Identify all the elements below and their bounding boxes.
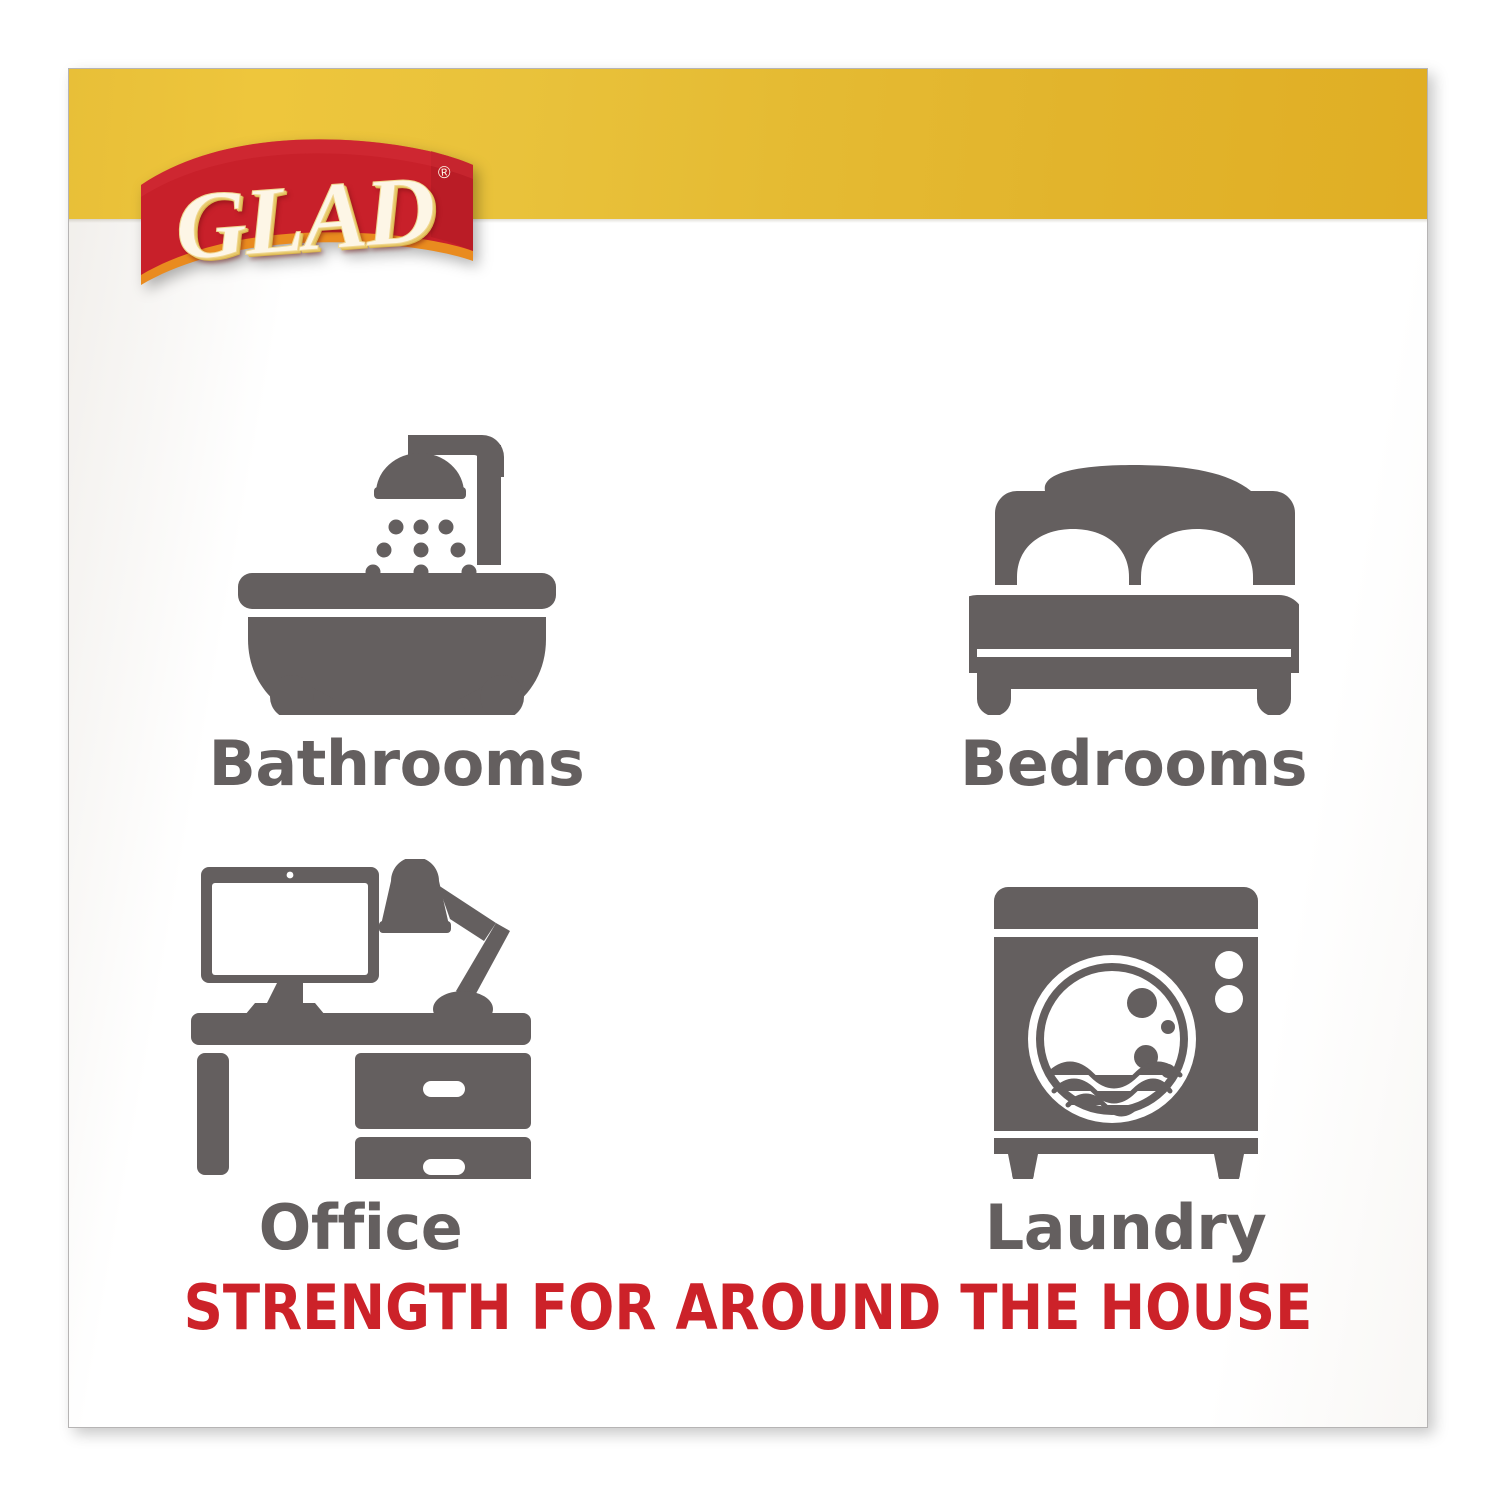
feature-icon-grid: Bathrooms xyxy=(69,307,1427,1307)
product-info-card: GLAD ® xyxy=(68,68,1428,1428)
headline-strength-for-around-the-house: STRENGTH FOR AROUND THE HOUSE xyxy=(150,1277,1345,1339)
advertisement-page: GLAD ® xyxy=(0,0,1500,1500)
feature-label-laundry: Laundry xyxy=(985,1197,1267,1259)
feature-laundry: Laundry xyxy=(786,807,1428,1307)
bed-icon xyxy=(969,385,1299,715)
desk-computer-lamp-icon xyxy=(191,849,531,1179)
feature-bedrooms: Bedrooms xyxy=(794,307,1428,807)
feature-label-office: Office xyxy=(259,1197,463,1259)
glad-logo: GLAD ® xyxy=(131,135,479,303)
washing-machine-icon xyxy=(986,849,1266,1179)
feature-label-bedrooms: Bedrooms xyxy=(960,733,1307,795)
registered-trademark-icon: ® xyxy=(438,163,452,184)
feature-label-bathrooms: Bathrooms xyxy=(209,733,585,795)
feature-office: Office xyxy=(68,807,700,1307)
bathtub-shower-icon xyxy=(232,385,562,715)
feature-bathrooms: Bathrooms xyxy=(68,307,736,807)
